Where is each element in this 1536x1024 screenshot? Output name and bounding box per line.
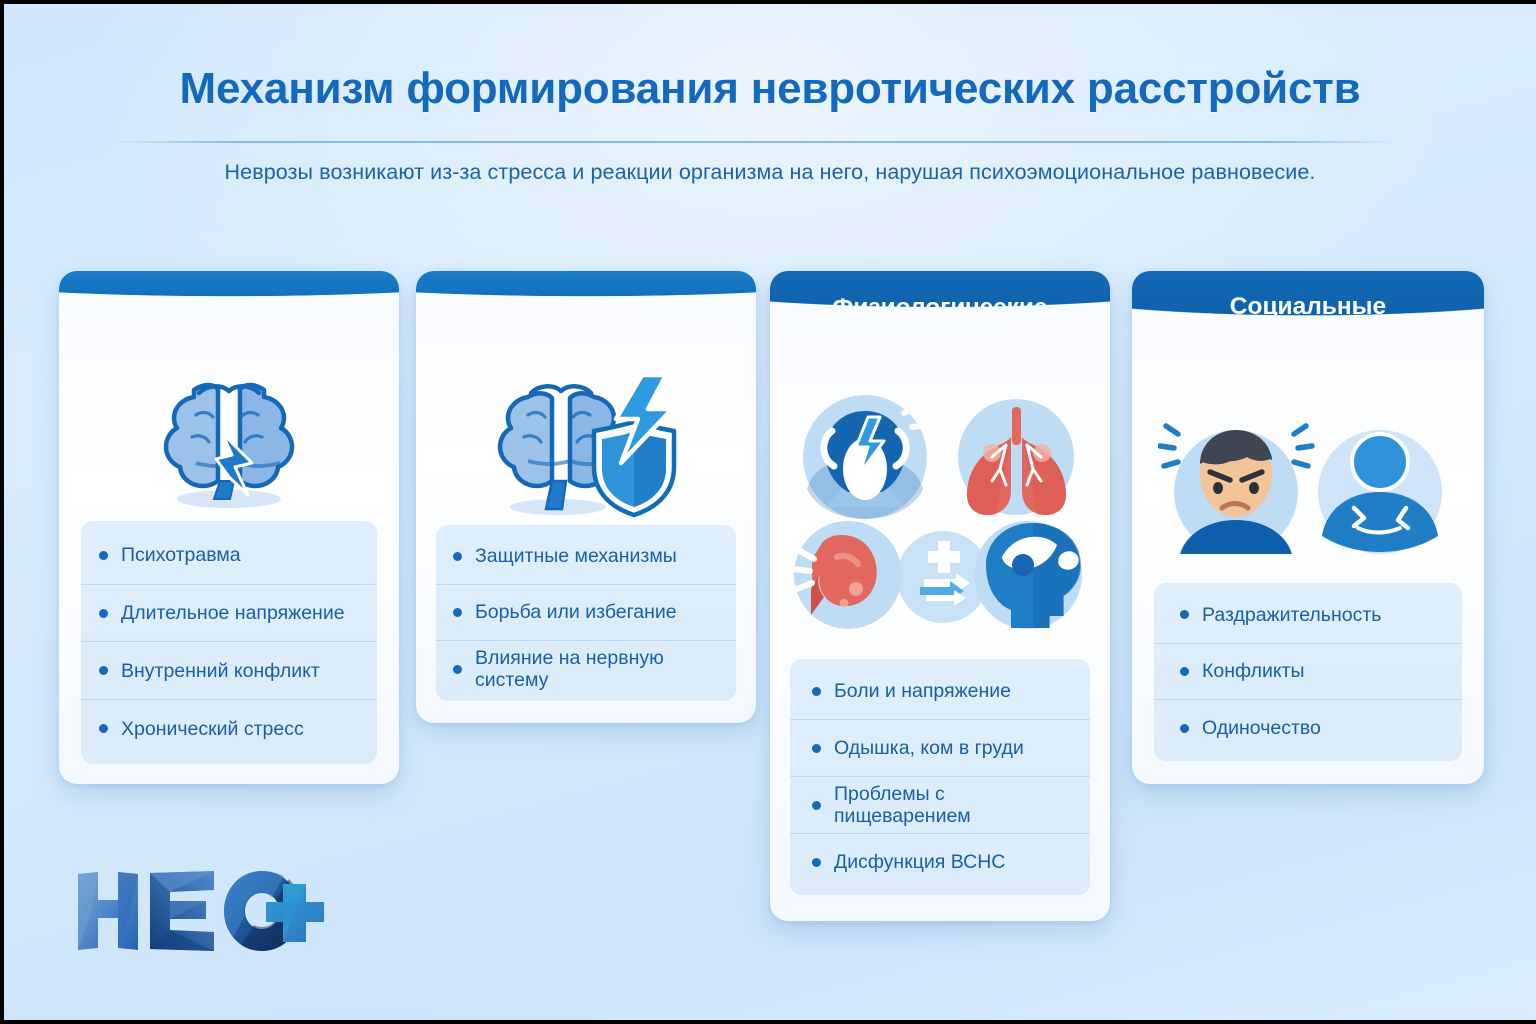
- list-item[interactable]: Раздражительность: [1154, 587, 1462, 644]
- list-item-label: Дисфункция ВСНС: [834, 851, 1005, 873]
- card-title-line-2: и эмоциональные: [1197, 323, 1418, 355]
- list-item[interactable]: Психотравма: [81, 527, 377, 585]
- card-bullet-list: Психотравма Длительное напряжение Внутре…: [81, 521, 377, 764]
- card-title-line-1: Социальные: [1197, 291, 1418, 323]
- list-item[interactable]: Одышка, ком в груди: [790, 720, 1090, 777]
- bullet-dot-icon: [99, 551, 108, 560]
- bullet-dot-icon: [812, 687, 821, 696]
- list-item-label: Одиночество: [1202, 717, 1321, 739]
- card-bullet-list: Раздражительность Конфликты Одиночество: [1154, 583, 1462, 761]
- lungs-icon: [958, 399, 1074, 515]
- card-header: Адаптационная реакция: [416, 271, 756, 355]
- card-header: Социальные и эмоциональные последстаия: [1132, 271, 1484, 419]
- card-header: Физиологические проявления: [770, 271, 1110, 391]
- bullet-dot-icon: [453, 608, 462, 617]
- list-item-label: Влияние на нервную систему: [475, 647, 719, 692]
- screenshot-frame: Механизм формирования невротических расс…: [0, 0, 1536, 1024]
- card-bullet-list: Защитные механизмы Борьба или избегание …: [436, 525, 736, 701]
- angry-face-icon: [1160, 426, 1312, 554]
- list-item[interactable]: Боли и напряжение: [790, 663, 1090, 720]
- list-item-label: Внутренний конфликт: [121, 660, 320, 682]
- card-bullet-list: Боли и напряжение Одышка, ком в груди Пр…: [790, 659, 1090, 895]
- physiological-icon-grid: [770, 389, 1110, 649]
- bullet-dot-icon: [99, 666, 108, 675]
- bullet-dot-icon: [1180, 724, 1189, 733]
- list-item[interactable]: Дисфункция ВСНС: [790, 834, 1090, 891]
- brain-lightning-icon: [59, 359, 399, 524]
- card-title-line-2: проявления: [832, 324, 1047, 356]
- stomach-icon: [794, 521, 902, 629]
- list-item-label: Проблемы с пищеварением: [834, 783, 1068, 828]
- social-icon-row: [1132, 416, 1484, 576]
- card-physiological-manifestations: Физиологические проявления: [770, 271, 1110, 921]
- bullet-dot-icon: [812, 801, 821, 810]
- list-item[interactable]: Проблемы с пищеварением: [790, 777, 1090, 834]
- card-header: Источники стресса: [59, 271, 399, 355]
- list-item[interactable]: Длительное напряжение: [81, 585, 377, 643]
- list-item[interactable]: Борьба или избегание: [436, 585, 736, 641]
- list-item-label: Защитные механизмы: [475, 545, 677, 567]
- card-title-line-3: последстаия: [1197, 356, 1418, 388]
- bullet-dot-icon: [453, 552, 462, 561]
- page-subtitle: Неврозы возникают из-за стресса и реакци…: [4, 160, 1536, 185]
- bullet-dot-icon: [453, 665, 462, 674]
- list-item-label: Длительное напряжение: [121, 602, 345, 624]
- list-item[interactable]: Одиночество: [1154, 700, 1462, 757]
- list-item[interactable]: Внутренний конфликт: [81, 642, 377, 700]
- list-item[interactable]: Влияние на нервную систему: [436, 641, 736, 697]
- brand-logo[interactable]: [72, 866, 332, 956]
- card-title: Источники стресса: [109, 291, 349, 320]
- card-adaptation-reaction: Адаптационная реакция Защитные механизмы: [416, 271, 756, 723]
- bullet-dot-icon: [1180, 667, 1189, 676]
- bullet-dot-icon: [99, 724, 108, 733]
- head-eye-icon: [974, 521, 1082, 629]
- list-item-label: Раздражительность: [1202, 604, 1381, 626]
- brain-shield-lightning-icon: [416, 357, 756, 527]
- list-item[interactable]: Хронический стресс: [81, 700, 377, 758]
- card-sources-of-stress: Источники стресса Психотравма: [59, 271, 399, 784]
- list-item[interactable]: Защитные механизмы: [436, 529, 736, 585]
- bullet-dot-icon: [812, 858, 821, 867]
- headache-person-icon: [803, 395, 930, 519]
- page-title: Механизм формирования невротических расс…: [4, 64, 1536, 114]
- list-item-label: Борьба или избегание: [475, 601, 677, 623]
- list-item-label: Психотравма: [121, 544, 241, 566]
- lonely-person-icon: [1318, 430, 1442, 554]
- list-item-label: Боли и напряжение: [834, 680, 1011, 702]
- list-item-label: Конфликты: [1202, 660, 1305, 682]
- list-item-label: Одышка, ком в груди: [834, 737, 1024, 759]
- list-item-label: Хронический стресс: [121, 718, 304, 740]
- header-divider: [109, 141, 1399, 143]
- bullet-dot-icon: [812, 744, 821, 753]
- card-title-line-1: Физиологические: [832, 292, 1047, 324]
- neo-plus-logo-icon: [72, 866, 332, 956]
- infographic-canvas: Механизм формирования невротических расс…: [4, 4, 1536, 1020]
- bullet-dot-icon: [99, 609, 108, 618]
- bullet-dot-icon: [1180, 610, 1189, 619]
- card-title: Адаптационная реакция: [432, 291, 740, 320]
- card-social-emotional-consequences: Социальные и эмоциональные последстаия: [1132, 271, 1484, 784]
- list-item[interactable]: Конфликты: [1154, 644, 1462, 701]
